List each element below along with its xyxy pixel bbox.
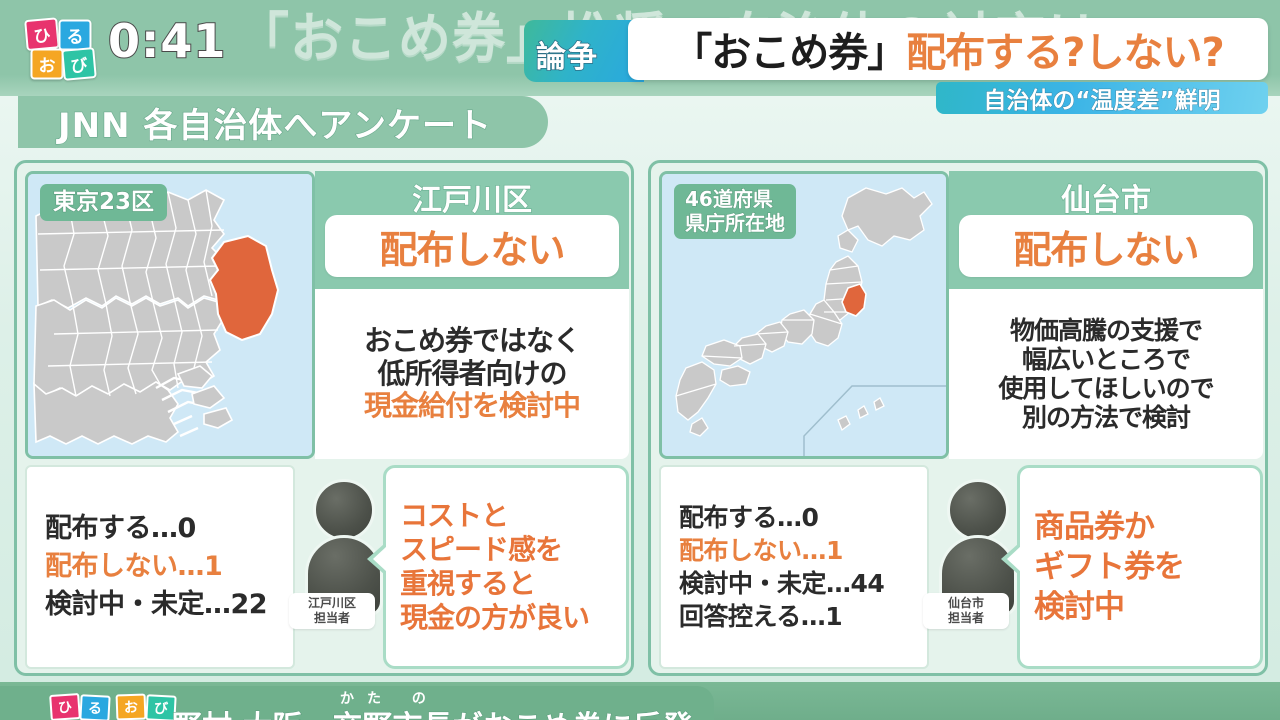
stat-row: 検討中・未定…22 [45, 586, 293, 624]
ticker-logo-tile-1: ひ [49, 693, 81, 720]
avatar-label-edogawa: 江戸川区 担当者 [289, 593, 375, 629]
panel-tokyo-23-wards: 東京23区 江戸川区 配布しない おこめ券ではなく 低所得者向けの 現金給付を検… [14, 160, 634, 676]
map-label-tokyo: 東京23区 [40, 184, 167, 221]
main-headline: 「おこめ券」配布する?しない? [628, 18, 1268, 80]
sub-headline-label: 自治体の“温度差”鮮明 [983, 81, 1220, 115]
verdict-label-edogawa: 配布しない [379, 219, 564, 274]
quote-line: 商品券か [1034, 507, 1260, 547]
city-name-sendai: 仙台市 [949, 175, 1263, 219]
reason-line: おこめ券ではなく [364, 325, 580, 357]
reason-line: 使用してほしいので [998, 374, 1213, 403]
stats-box-edogawa: 配布する…0 配布しない…1 検討中・未定…22 [25, 465, 295, 669]
panel-top-card: 46道府県 県庁所在地 仙台市 配布しない 物価高騰の支援で 幅広いところで 使… [659, 171, 1263, 459]
reason-line: 物価高騰の支援で [1010, 316, 1202, 345]
ticker-headline: 野村 大阪・交野市長がおこめ券に反発 [172, 702, 692, 720]
quote-line: スピード感を [400, 533, 626, 567]
quote-box-sendai: 商品券か ギフト券を 検討中 [1017, 465, 1263, 669]
stat-row: 配布しない…1 [679, 534, 927, 567]
stats-box-sendai: 配布する…0 配布しない…1 検討中・未定…44 回答控える…1 [659, 465, 929, 669]
ticker-logo: ひ る お び [50, 694, 116, 720]
reason-line: 現金給付を検討中 [364, 390, 580, 422]
reason-line: 別の方法で検討 [1022, 403, 1190, 432]
verdict-sendai: 配布しない [959, 215, 1253, 277]
topic-badge-label: 論争 [536, 32, 598, 76]
topic-badge: 論争 [524, 20, 644, 82]
quote-line: 現金の方が良い [400, 601, 626, 635]
info-column-edogawa: 江戸川区 配布しない おこめ券ではなく 低所得者向けの 現金給付を検討中 [315, 171, 629, 459]
reason-sendai: 物価高騰の支援で 幅広いところで 使用してほしいので 別の方法で検討 [949, 289, 1263, 459]
quote-box-edogawa: コストと スピード感を 重視すると 現金の方が良い [383, 465, 629, 669]
quote-line: 検討中 [1034, 587, 1260, 627]
logo-tile-1: ひ [24, 17, 60, 51]
quote-line: ギフト券を [1034, 547, 1260, 587]
headline-subject: 「おこめ券」 [672, 20, 906, 78]
map-label-prefectures: 46道府県 県庁所在地 [674, 184, 796, 239]
city-name-edogawa: 江戸川区 [315, 175, 629, 219]
program-logo: ひ る お び [25, 17, 99, 83]
verdict-edogawa: 配布しない [325, 215, 619, 277]
verdict-label-sendai: 配布しない [1013, 219, 1198, 274]
avatar-label-sendai: 仙台市 担当者 [923, 593, 1009, 629]
ticker-logo-tile-3: お [116, 693, 147, 720]
stat-row: 検討中・未定…44 [679, 567, 927, 600]
section-title-pill: JNN 各自治体へアンケート [18, 96, 548, 148]
quote-line: 重視すると [400, 567, 626, 601]
logo-tile-4: び [61, 47, 97, 81]
ticker-logo-tile-2: る [79, 694, 110, 720]
sub-headline-banner: 自治体の“温度差”鮮明 [936, 82, 1268, 114]
reason-line: 低所得者向けの [377, 358, 566, 390]
map-japan: 46道府県 県庁所在地 [659, 171, 949, 459]
stat-row: 回答控える…1 [679, 600, 927, 633]
clock-display: 0:41 [108, 14, 226, 68]
panel-bottom-row-sendai: 配布する…0 配布しない…1 検討中・未定…44 回答控える…1 仙台市 担当者… [659, 465, 1263, 669]
reason-edogawa: おこめ券ではなく 低所得者向けの 現金給付を検討中 [315, 289, 629, 459]
section-title-label: JNN 各自治体へアンケート [58, 98, 492, 147]
headline-question: 配布する?しない? [906, 20, 1223, 78]
quote-line: コストと [400, 499, 626, 533]
avatar-head [313, 479, 375, 541]
panel-top-card: 東京23区 江戸川区 配布しない おこめ券ではなく 低所得者向けの 現金給付を検… [25, 171, 629, 459]
info-column-sendai: 仙台市 配布しない 物価高騰の支援で 幅広いところで 使用してほしいので 別の方… [949, 171, 1263, 459]
stat-row: 配布しない…1 [45, 548, 293, 586]
reason-line: 幅広いところで [1022, 345, 1190, 374]
panel-46-prefectures: 46道府県 県庁所在地 仙台市 配布しない 物価高騰の支援で 幅広いところで 使… [648, 160, 1268, 676]
logo-tile-3: お [30, 49, 63, 80]
stat-row: 配布する…0 [45, 510, 293, 548]
avatar-head [947, 479, 1009, 541]
map-tokyo-23-wards: 東京23区 [25, 171, 315, 459]
stat-row: 配布する…0 [679, 501, 927, 534]
broadcast-screen: 「おこめ券」推奨…自治体の対応は ひ る お び 0:41 論争 「おこめ券」配… [0, 0, 1280, 720]
panel-bottom-row-edogawa: 配布する…0 配布しない…1 検討中・未定…22 江戸川区 担当者 コストと ス… [25, 465, 629, 669]
logo-tile-2: る [58, 20, 91, 51]
